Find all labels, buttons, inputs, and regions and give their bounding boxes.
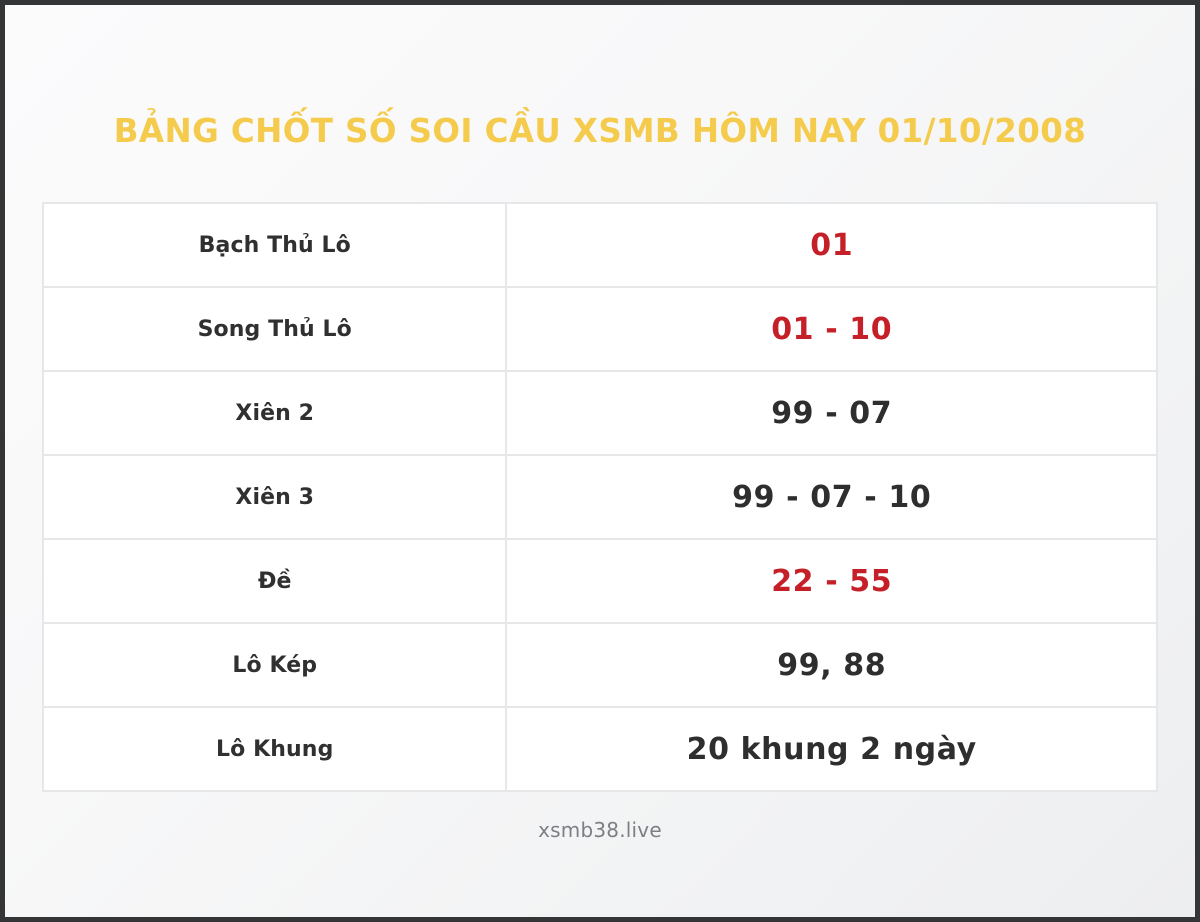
table-cell-value: 99 - 07 - 10: [506, 455, 1157, 539]
row-value: 22 - 55: [771, 564, 892, 599]
row-label: Đề: [258, 569, 292, 594]
table-row: Xiên 2 99 - 07: [43, 371, 1157, 455]
row-label: Xiên 2: [235, 401, 314, 426]
table-row: Lô Kép 99, 88: [43, 623, 1157, 707]
page-title: BẢNG CHỐT SỐ SOI CẦU XSMB HÔM NAY 01/10/…: [114, 115, 1087, 148]
row-value: 01: [810, 228, 853, 263]
table-cell-label: Song Thủ Lô: [43, 287, 506, 371]
row-label: Lô Kép: [232, 653, 317, 678]
prediction-table: Bạch Thủ Lô 01 Song Thủ Lô 01 - 10: [42, 202, 1158, 792]
row-label: Bạch Thủ Lô: [199, 233, 351, 258]
page-frame: BẢNG CHỐT SỐ SOI CẦU XSMB HÔM NAY 01/10/…: [0, 0, 1200, 922]
page-stage: BẢNG CHỐT SỐ SOI CẦU XSMB HÔM NAY 01/10/…: [5, 5, 1195, 917]
table-cell-label: Xiên 3: [43, 455, 506, 539]
page-title-wrap: BẢNG CHỐT SỐ SOI CẦU XSMB HÔM NAY 01/10/…: [5, 93, 1195, 169]
site-watermark: xsmb38.live: [538, 818, 662, 842]
table-cell-value: 01: [506, 203, 1157, 287]
table-cell-value: 99, 88: [506, 623, 1157, 707]
table-row: Song Thủ Lô 01 - 10: [43, 287, 1157, 371]
row-value: 99 - 07: [771, 396, 892, 431]
row-value: 20 khung 2 ngày: [687, 732, 977, 767]
row-label: Xiên 3: [235, 485, 314, 510]
table-row: Xiên 3 99 - 07 - 10: [43, 455, 1157, 539]
table-row: Lô Khung 20 khung 2 ngày: [43, 707, 1157, 791]
row-label: Song Thủ Lô: [198, 317, 352, 342]
prediction-table-body: Bạch Thủ Lô 01 Song Thủ Lô 01 - 10: [43, 203, 1157, 791]
table-row: Bạch Thủ Lô 01: [43, 203, 1157, 287]
table-cell-value: 20 khung 2 ngày: [506, 707, 1157, 791]
table-cell-value: 01 - 10: [506, 287, 1157, 371]
table-cell-value: 22 - 55: [506, 539, 1157, 623]
row-value: 01 - 10: [771, 312, 892, 347]
table-cell-label: Bạch Thủ Lô: [43, 203, 506, 287]
row-value: 99, 88: [777, 648, 886, 683]
row-label: Lô Khung: [216, 737, 333, 762]
row-value: 99 - 07 - 10: [732, 480, 931, 515]
table-cell-label: Lô Khung: [43, 707, 506, 791]
table-cell-label: Xiên 2: [43, 371, 506, 455]
table-cell-label: Lô Kép: [43, 623, 506, 707]
table-cell-label: Đề: [43, 539, 506, 623]
table-row: Đề 22 - 55: [43, 539, 1157, 623]
table-cell-value: 99 - 07: [506, 371, 1157, 455]
